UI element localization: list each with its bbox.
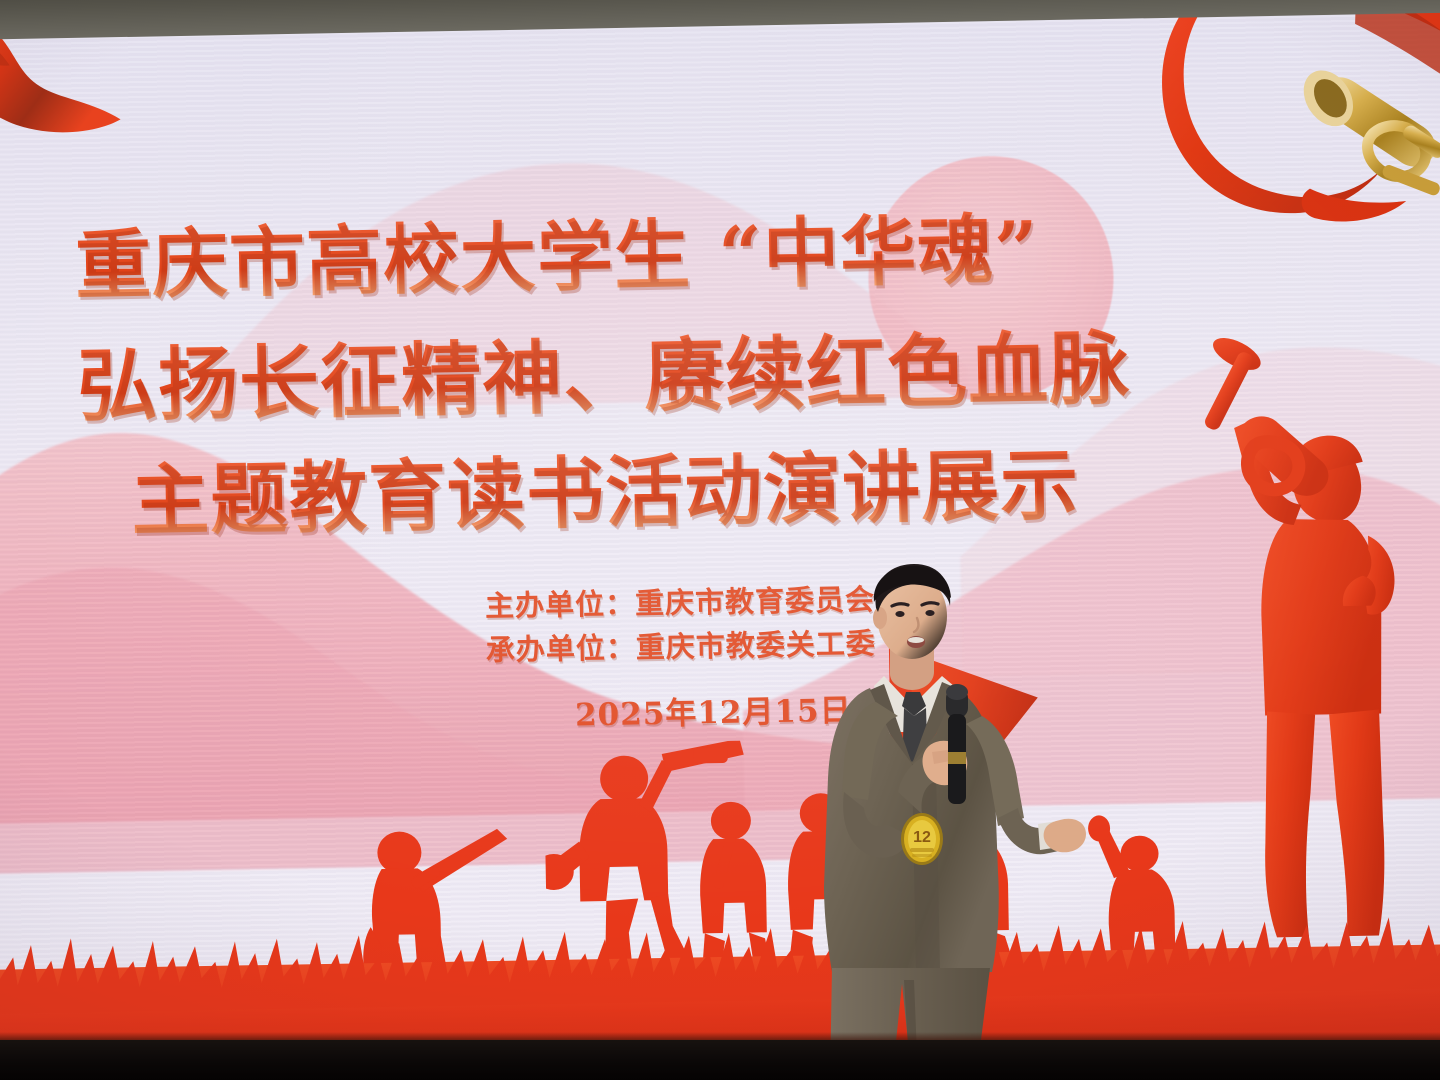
title-line-3: 主题教育读书活动演讲展示	[130, 423, 1080, 552]
stage-lip	[0, 1040, 1440, 1080]
bugler-silhouette-right	[1198, 321, 1439, 965]
red-ribbon-top-right	[1120, 0, 1440, 277]
badge-number: 12	[913, 829, 931, 846]
speaker-person: 12	[786, 556, 1086, 1080]
contestant-badge: 12	[901, 813, 943, 865]
title-line-1: 重庆市高校大学生 “中华魂”	[74, 187, 1040, 314]
led-screen-backdrop: 重庆市高校大学生 “中华魂” 弘扬长征精神、赓续红色血脉 主题教育读书活动演讲展…	[0, 0, 1440, 1042]
title-line-2: 弘扬长征精神、赓续红色血脉	[76, 304, 1131, 438]
stage-photo: 重庆市高校大学生 “中华魂” 弘扬长征精神、赓续红色血脉 主题教育读书活动演讲展…	[0, 0, 1440, 1080]
backdrop-canvas: 重庆市高校大学生 “中华魂” 弘扬长征精神、赓续红色血脉 主题教育读书活动演讲展…	[0, 0, 1440, 1042]
gold-bugle-icon	[1293, 59, 1440, 199]
